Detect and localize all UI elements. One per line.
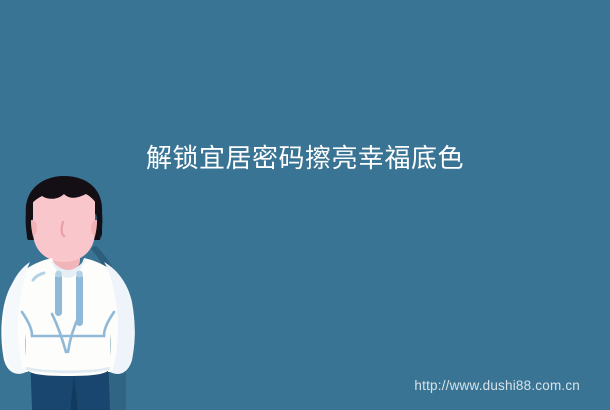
page-title: 解锁宜居密码擦亮幸福底色 [0, 143, 610, 175]
illustration-young-man-in-hoodie [0, 176, 150, 410]
image-canvas: 解锁宜居密码擦亮幸福底色 http://www.dushi88.com.cn [0, 0, 610, 410]
watermark-url: http://www.dushi88.com.cn [414, 378, 580, 394]
figure-hoodie [1, 258, 134, 376]
